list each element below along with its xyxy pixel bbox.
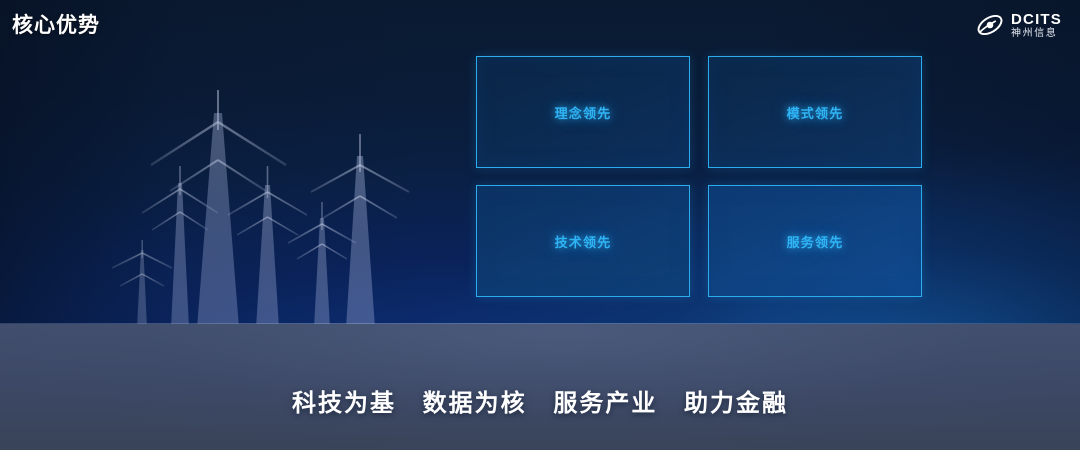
pylon-right-small <box>288 202 356 328</box>
slide-tagline: 科技为基 数据为核 服务产业 助力金融 <box>0 383 1080 418</box>
pylon-far-left <box>112 240 172 328</box>
advantage-card-label: 模式领先 <box>787 103 844 122</box>
advantage-card-technology[interactable]: 技术领先 <box>476 185 690 297</box>
advantage-card-grid: 理念领先 模式领先 技术领先 服务领先 <box>476 56 922 297</box>
tagline-part-1: 科技为基 <box>292 390 396 417</box>
advantage-card-label: 服务领先 <box>787 232 844 251</box>
logo-text-en: DCITS <box>1011 12 1062 27</box>
pylon-center <box>228 166 307 328</box>
advantage-card-model[interactable]: 模式领先 <box>708 56 922 168</box>
tagline-part-2: 数据为核 <box>423 390 527 417</box>
slide-root: 核心优势 DCITS 神州信息 理念领先 模式领先 技术领先 服务领先 <box>0 0 1080 450</box>
advantage-card-concept[interactable]: 理念领先 <box>476 56 690 168</box>
advantage-card-label: 技术领先 <box>555 232 612 251</box>
logo-wordmark: DCITS 神州信息 <box>1011 12 1062 39</box>
advantage-card-label: 理念领先 <box>555 103 612 122</box>
page-title: 核心优势 <box>12 9 100 39</box>
dcits-swirl-logo-icon <box>975 11 1005 39</box>
header-bar: 核心优势 DCITS 神州信息 <box>0 0 1080 50</box>
tagline-part-3: 服务产业 <box>553 390 657 417</box>
brand-logo: DCITS 神州信息 <box>975 8 1062 42</box>
tagline-part-4: 助力金融 <box>684 390 788 417</box>
logo-text-cn: 神州信息 <box>1011 29 1062 39</box>
advantage-card-service[interactable]: 服务领先 <box>708 185 922 297</box>
